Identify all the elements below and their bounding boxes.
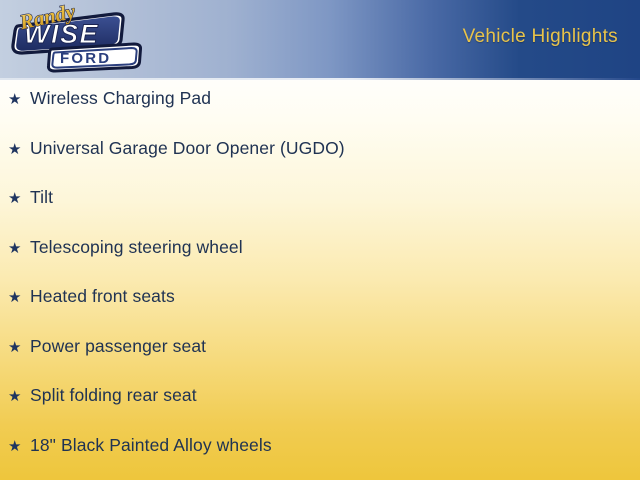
page-title: Vehicle Highlights xyxy=(463,26,618,48)
feature-label: Power passenger seat xyxy=(30,338,206,356)
list-item: ★ Wireless Charging Pad xyxy=(0,90,640,140)
feature-label: Telescoping steering wheel xyxy=(30,239,243,257)
list-item: ★ Tilt xyxy=(0,189,640,239)
star-icon: ★ xyxy=(8,92,30,107)
list-item: ★ Telescoping steering wheel xyxy=(0,239,640,289)
list-item: ★ 18" Black Painted Alloy wheels xyxy=(0,437,640,480)
content-area: ★ Wireless Charging Pad ★ Universal Gara… xyxy=(0,80,640,480)
feature-label: Tilt xyxy=(30,189,53,207)
star-icon: ★ xyxy=(8,241,30,256)
feature-label: Heated front seats xyxy=(30,288,175,306)
dealer-logo: WISE FORD Randy xyxy=(6,0,146,78)
feature-label: 18" Black Painted Alloy wheels xyxy=(30,437,272,455)
star-icon: ★ xyxy=(8,191,30,206)
list-item: ★ Power passenger seat xyxy=(0,338,640,388)
list-item: ★ Split folding rear seat xyxy=(0,387,640,437)
page-header: WISE FORD Randy Vehicle Highlights xyxy=(0,0,640,80)
feature-label: Universal Garage Door Opener (UGDO) xyxy=(30,140,345,158)
star-icon: ★ xyxy=(8,439,30,454)
list-item: ★ Heated front seats xyxy=(0,288,640,338)
feature-label: Split folding rear seat xyxy=(30,387,197,405)
star-icon: ★ xyxy=(8,340,30,355)
star-icon: ★ xyxy=(8,290,30,305)
list-item: ★ Universal Garage Door Opener (UGDO) xyxy=(0,140,640,190)
star-icon: ★ xyxy=(8,142,30,157)
vehicle-highlights-list: ★ Wireless Charging Pad ★ Universal Gara… xyxy=(0,90,640,480)
logo-ford-text: FORD xyxy=(60,50,111,67)
star-icon: ★ xyxy=(8,389,30,404)
vehicle-highlights-page: WISE FORD Randy Vehicle Highlights ★ Wir xyxy=(0,0,640,480)
feature-label: Wireless Charging Pad xyxy=(30,90,211,108)
